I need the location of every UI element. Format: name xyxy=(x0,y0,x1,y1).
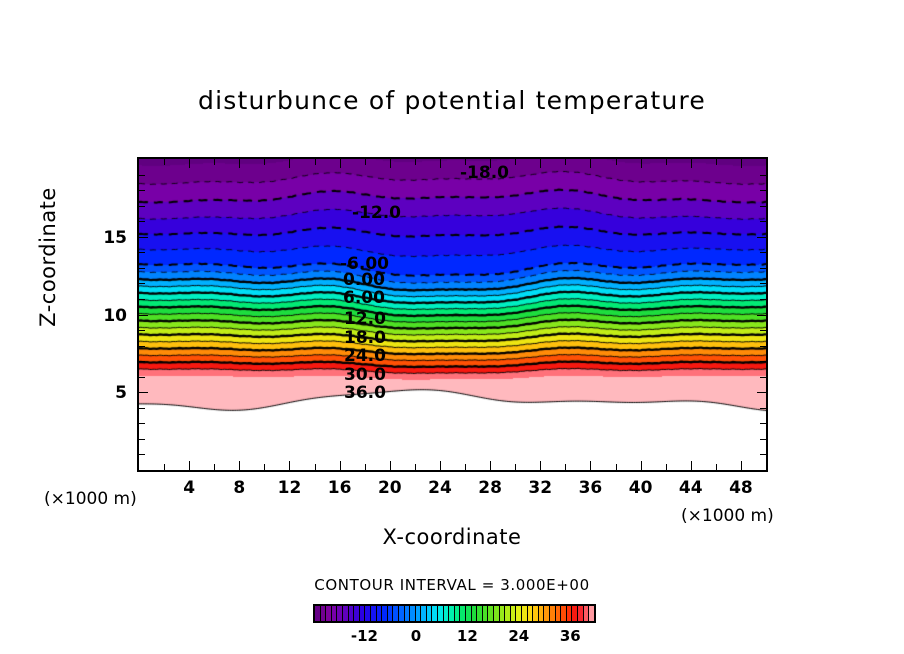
x-tick-top xyxy=(365,159,366,165)
contour-label: -12.0 xyxy=(352,205,401,222)
y-tick-right xyxy=(757,237,766,238)
y-tick-right xyxy=(760,283,766,284)
x-tick-label: 36 xyxy=(568,478,612,498)
page-title: disturbunce of potential temperature xyxy=(0,86,904,115)
x-tick-top xyxy=(315,159,316,165)
y-tick-right xyxy=(760,175,766,176)
y-tick xyxy=(139,283,145,284)
x-axis-title: X-coordinate xyxy=(0,525,904,549)
x-tick-label: 20 xyxy=(368,478,412,498)
x-tick-top xyxy=(691,159,692,168)
colorbar-tick-label: -12 xyxy=(339,627,389,645)
x-tick xyxy=(415,464,416,470)
y-tick-right xyxy=(760,206,766,207)
y-tick-right xyxy=(757,315,766,316)
x-tick-label: 40 xyxy=(619,478,663,498)
y-tick-label: 5 xyxy=(87,383,127,403)
y-tick-right xyxy=(760,299,766,300)
contour-label: 18.0 xyxy=(344,330,386,347)
x-tick xyxy=(691,461,692,470)
y-tick xyxy=(139,268,145,269)
x-tick-top xyxy=(590,159,591,168)
contour-label: -18.0 xyxy=(460,165,509,182)
y-tick-right xyxy=(760,330,766,331)
x-tick xyxy=(340,461,341,470)
y-tick-right xyxy=(760,454,766,455)
y-tick xyxy=(139,361,145,362)
y-tick xyxy=(139,454,145,455)
x-tick-top xyxy=(565,159,566,165)
x-tick xyxy=(189,461,190,470)
x-tick-top xyxy=(616,159,617,165)
contour-field-canvas xyxy=(139,159,766,470)
x-tick xyxy=(565,464,566,470)
x-tick-label: 12 xyxy=(267,478,311,498)
contour-label: 24.0 xyxy=(344,348,386,365)
x-tick xyxy=(264,464,265,470)
y-tick xyxy=(139,252,145,253)
x-tick xyxy=(666,464,667,470)
y-tick xyxy=(139,206,145,207)
x-tick-top xyxy=(390,159,391,168)
contour-label: 12.0 xyxy=(344,311,386,328)
y-tick xyxy=(139,423,145,424)
y-tick-right xyxy=(760,439,766,440)
y-tick xyxy=(139,175,145,176)
x-tick-label: 48 xyxy=(719,478,763,498)
x-tick-top xyxy=(741,159,742,168)
y-tick xyxy=(139,237,148,238)
y-tick-right xyxy=(760,190,766,191)
x-tick xyxy=(590,461,591,470)
x-axis-unit: (×1000 m) xyxy=(681,506,774,526)
x-tick-label: 44 xyxy=(669,478,713,498)
x-tick xyxy=(616,464,617,470)
x-tick-top xyxy=(189,159,190,168)
colorbar-tick-label: 12 xyxy=(442,627,492,645)
x-tick xyxy=(465,464,466,470)
x-tick-label: 4 xyxy=(167,478,211,498)
x-tick-top xyxy=(164,159,165,165)
x-tick-label: 16 xyxy=(318,478,362,498)
x-tick-top xyxy=(716,159,717,165)
x-tick xyxy=(315,464,316,470)
x-tick-top xyxy=(289,159,290,168)
x-tick-top xyxy=(239,159,240,168)
x-tick-top xyxy=(214,159,215,165)
y-axis-unit: (×1000 m) xyxy=(44,489,137,509)
y-tick xyxy=(139,346,145,347)
x-tick xyxy=(540,461,541,470)
colorbar-tick-label: 36 xyxy=(545,627,595,645)
x-tick xyxy=(239,461,240,470)
y-tick-right xyxy=(760,221,766,222)
contour-label: 0.00 xyxy=(343,272,385,289)
x-tick-top xyxy=(440,159,441,168)
colorbar-segment xyxy=(589,606,594,621)
colorbar xyxy=(313,604,596,623)
y-tick xyxy=(139,221,145,222)
x-tick xyxy=(214,464,215,470)
y-tick-right xyxy=(760,268,766,269)
contour-label: 30.0 xyxy=(344,367,386,384)
y-tick xyxy=(139,392,148,393)
x-tick-label: 24 xyxy=(418,478,462,498)
x-tick xyxy=(365,464,366,470)
x-tick-top xyxy=(515,159,516,165)
y-tick-right xyxy=(760,361,766,362)
y-tick-right xyxy=(760,408,766,409)
x-tick xyxy=(741,461,742,470)
contour-label: 36.0 xyxy=(344,385,386,402)
y-tick-right xyxy=(760,252,766,253)
x-tick-top xyxy=(641,159,642,168)
y-tick xyxy=(139,190,145,191)
x-tick-top xyxy=(540,159,541,168)
colorbar-tick-label: 24 xyxy=(494,627,544,645)
y-axis-title: Z-coordinate xyxy=(36,147,60,367)
y-tick xyxy=(139,299,145,300)
x-tick-top xyxy=(340,159,341,168)
contour-label: 6.00 xyxy=(343,290,385,307)
x-tick-top xyxy=(666,159,667,165)
x-tick xyxy=(390,461,391,470)
x-tick xyxy=(716,464,717,470)
x-tick-label: 32 xyxy=(518,478,562,498)
x-tick-label: 28 xyxy=(468,478,512,498)
y-tick-right xyxy=(760,377,766,378)
y-tick xyxy=(139,439,145,440)
y-tick xyxy=(139,377,145,378)
x-tick xyxy=(289,461,290,470)
y-tick-right xyxy=(757,392,766,393)
y-tick xyxy=(139,315,148,316)
colorbar-tick-label: 0 xyxy=(391,627,441,645)
contour-interval-caption: CONTOUR INTERVAL = 3.000E+00 xyxy=(0,576,904,594)
x-tick xyxy=(440,461,441,470)
y-tick xyxy=(139,330,145,331)
x-tick xyxy=(515,464,516,470)
x-tick xyxy=(490,461,491,470)
y-tick xyxy=(139,408,145,409)
y-tick-label: 10 xyxy=(87,306,127,326)
contour-plot-area xyxy=(137,157,768,472)
x-tick-label: 8 xyxy=(217,478,261,498)
x-tick-top xyxy=(264,159,265,165)
y-tick-right xyxy=(760,346,766,347)
x-tick xyxy=(641,461,642,470)
x-tick xyxy=(164,464,165,470)
y-tick-right xyxy=(760,423,766,424)
x-tick-top xyxy=(415,159,416,165)
y-tick-label: 15 xyxy=(87,228,127,248)
